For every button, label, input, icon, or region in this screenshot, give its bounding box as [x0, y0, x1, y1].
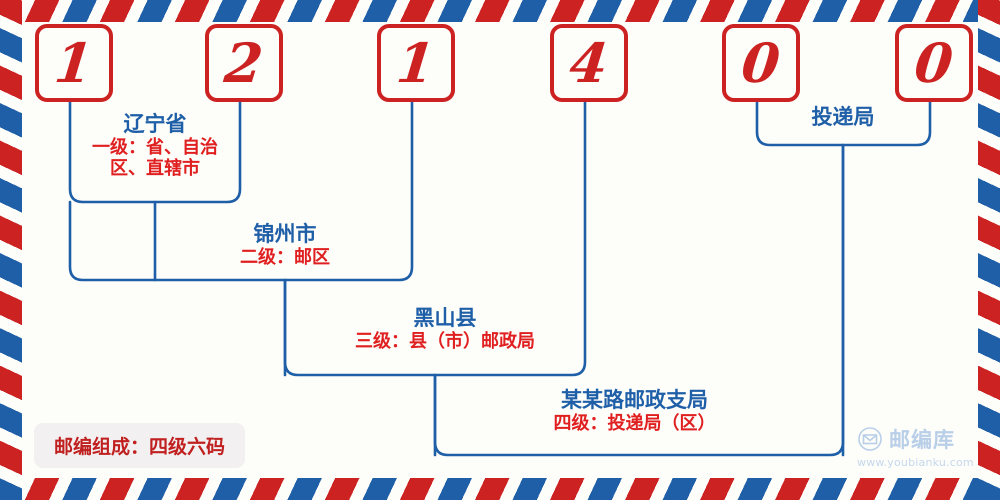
badge-label: 邮编组成：四级六码: [54, 436, 225, 458]
label-subtitle: 四级：投递局（区）: [482, 414, 787, 435]
watermark-brand: 邮编库: [889, 424, 955, 454]
label-level-4: 某某路邮政支局 四级：投递局（区）: [482, 388, 787, 435]
label-title: 黑山县: [310, 306, 580, 330]
postcode-digit-3[interactable]: 1: [377, 24, 455, 102]
digit-glyph: 1: [394, 36, 437, 90]
label-title: 辽宁省: [75, 112, 235, 136]
label-title: 投递局: [753, 105, 933, 129]
postcode-composition-badge: 邮编组成：四级六码: [34, 423, 245, 468]
label-level-3: 黑山县 三级：县（市）邮政局: [310, 306, 580, 353]
watermark: 邮编库 www.youbianku.com: [857, 424, 974, 469]
digit-glyph: 1: [52, 36, 95, 90]
digit-glyph: 4: [567, 36, 610, 90]
label-level-2: 锦州市 二级：邮区: [180, 222, 390, 269]
postcode-digit-5[interactable]: 0: [722, 24, 800, 102]
digit-glyph: 2: [222, 36, 265, 90]
label-title: 某某路邮政支局: [482, 388, 787, 412]
postcode-digit-2[interactable]: 2: [205, 24, 283, 102]
label-level-1: 辽宁省 一级：省、自治区、直辖市: [75, 112, 235, 180]
postcode-digit-1[interactable]: 1: [35, 24, 113, 102]
label-subtitle: 一级：省、自治区、直辖市: [75, 138, 235, 179]
postcode-digit-4[interactable]: 4: [550, 24, 628, 102]
label-title: 锦州市: [180, 222, 390, 246]
digit-glyph: 0: [912, 36, 955, 90]
digit-glyph: 0: [739, 36, 782, 90]
label-subtitle: 三级：县（市）邮政局: [310, 332, 580, 353]
postcode-infographic: 1 2 1 4 0 0 投递局 辽宁省 一级：省、自治区、直辖市 锦州市 二级：…: [0, 0, 1000, 500]
label-delivery-office: 投递局: [753, 105, 933, 129]
watermark-url: www.youbianku.com: [857, 456, 974, 469]
envelope-circle-icon: [857, 426, 883, 452]
label-subtitle: 二级：邮区: [180, 248, 390, 269]
postcode-digit-6[interactable]: 0: [895, 24, 973, 102]
